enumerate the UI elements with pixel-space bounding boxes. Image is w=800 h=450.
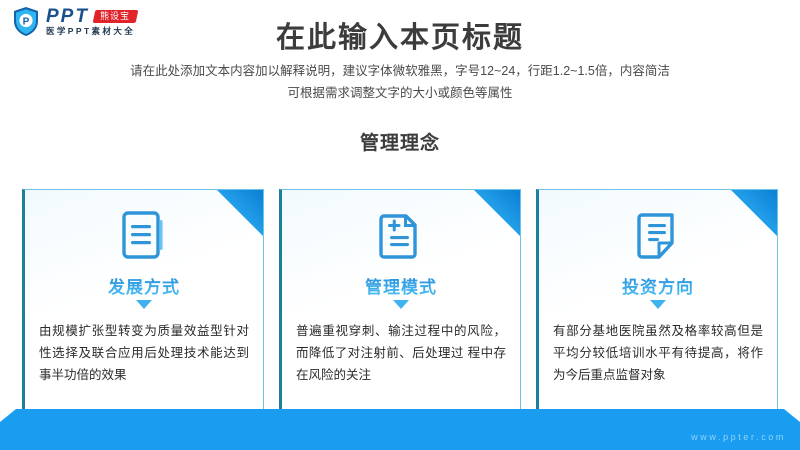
page-subtitle: 请在此处添加文本内容加以解释说明，建议字体微软雅黑，字号12~24，行距1.2~… [0,61,800,104]
card-management-mode[interactable]: 管理模式 普遍重视穿刺、输注过程中的风险，而降低了对注射前、后处理过 程中存在风… [279,189,521,427]
document-plus-icon [378,210,424,262]
caret-down-icon [650,300,666,309]
card-icon-wrap [539,210,777,262]
subtitle-line-2: 可根据需求调整文字的大小或颜色等属性 [0,83,800,105]
card-title: 管理模式 [282,273,520,298]
card-body-text: 由规模扩张型转变为质量效益型针对性选择及联合应用后处理技术能达到事半功倍的效果 [39,321,249,387]
slide-canvas: P PPT 熊设宝 医学PPT素材大全 在此输入本页标题 请在此处添加文本内容加… [0,0,800,450]
footer-watermark: www.ppter.com [691,432,786,442]
page-title: 在此输入本页标题 [0,14,800,56]
subtitle-line-1: 请在此处添加文本内容加以解释说明，建议字体微软雅黑，字号12~24，行距1.2~… [0,61,800,83]
card-icon-wrap [282,210,520,262]
caret-down-icon [136,300,152,309]
card-development-method[interactable]: 发展方式 由规模扩张型转变为质量效益型针对性选择及联合应用后处理技术能达到事半功… [22,189,264,427]
card-group: 发展方式 由规模扩张型转变为质量效益型针对性选择及联合应用后处理技术能达到事半功… [22,189,778,427]
card-investment-direction[interactable]: 投资方向 有部分基地医院虽然及格率较高但是平均分较低培训水平有待提高，将作为今后… [536,189,778,427]
footer-blue-band [0,409,800,450]
card-icon-wrap [25,210,263,262]
document-folded-corner-icon [635,210,681,262]
card-body-text: 有部分基地医院虽然及格率较高但是平均分较低培训水平有待提高，将作为今后重点监督对… [553,321,763,387]
section-heading: 管理理念 [0,128,800,155]
caret-down-icon [393,300,409,309]
card-body-text: 普遍重视穿刺、输注过程中的风险，而降低了对注射前、后处理过 程中存在风险的关注 [296,321,506,387]
card-title: 发展方式 [25,273,263,298]
card-title: 投资方向 [539,273,777,298]
document-lines-icon [121,210,167,262]
